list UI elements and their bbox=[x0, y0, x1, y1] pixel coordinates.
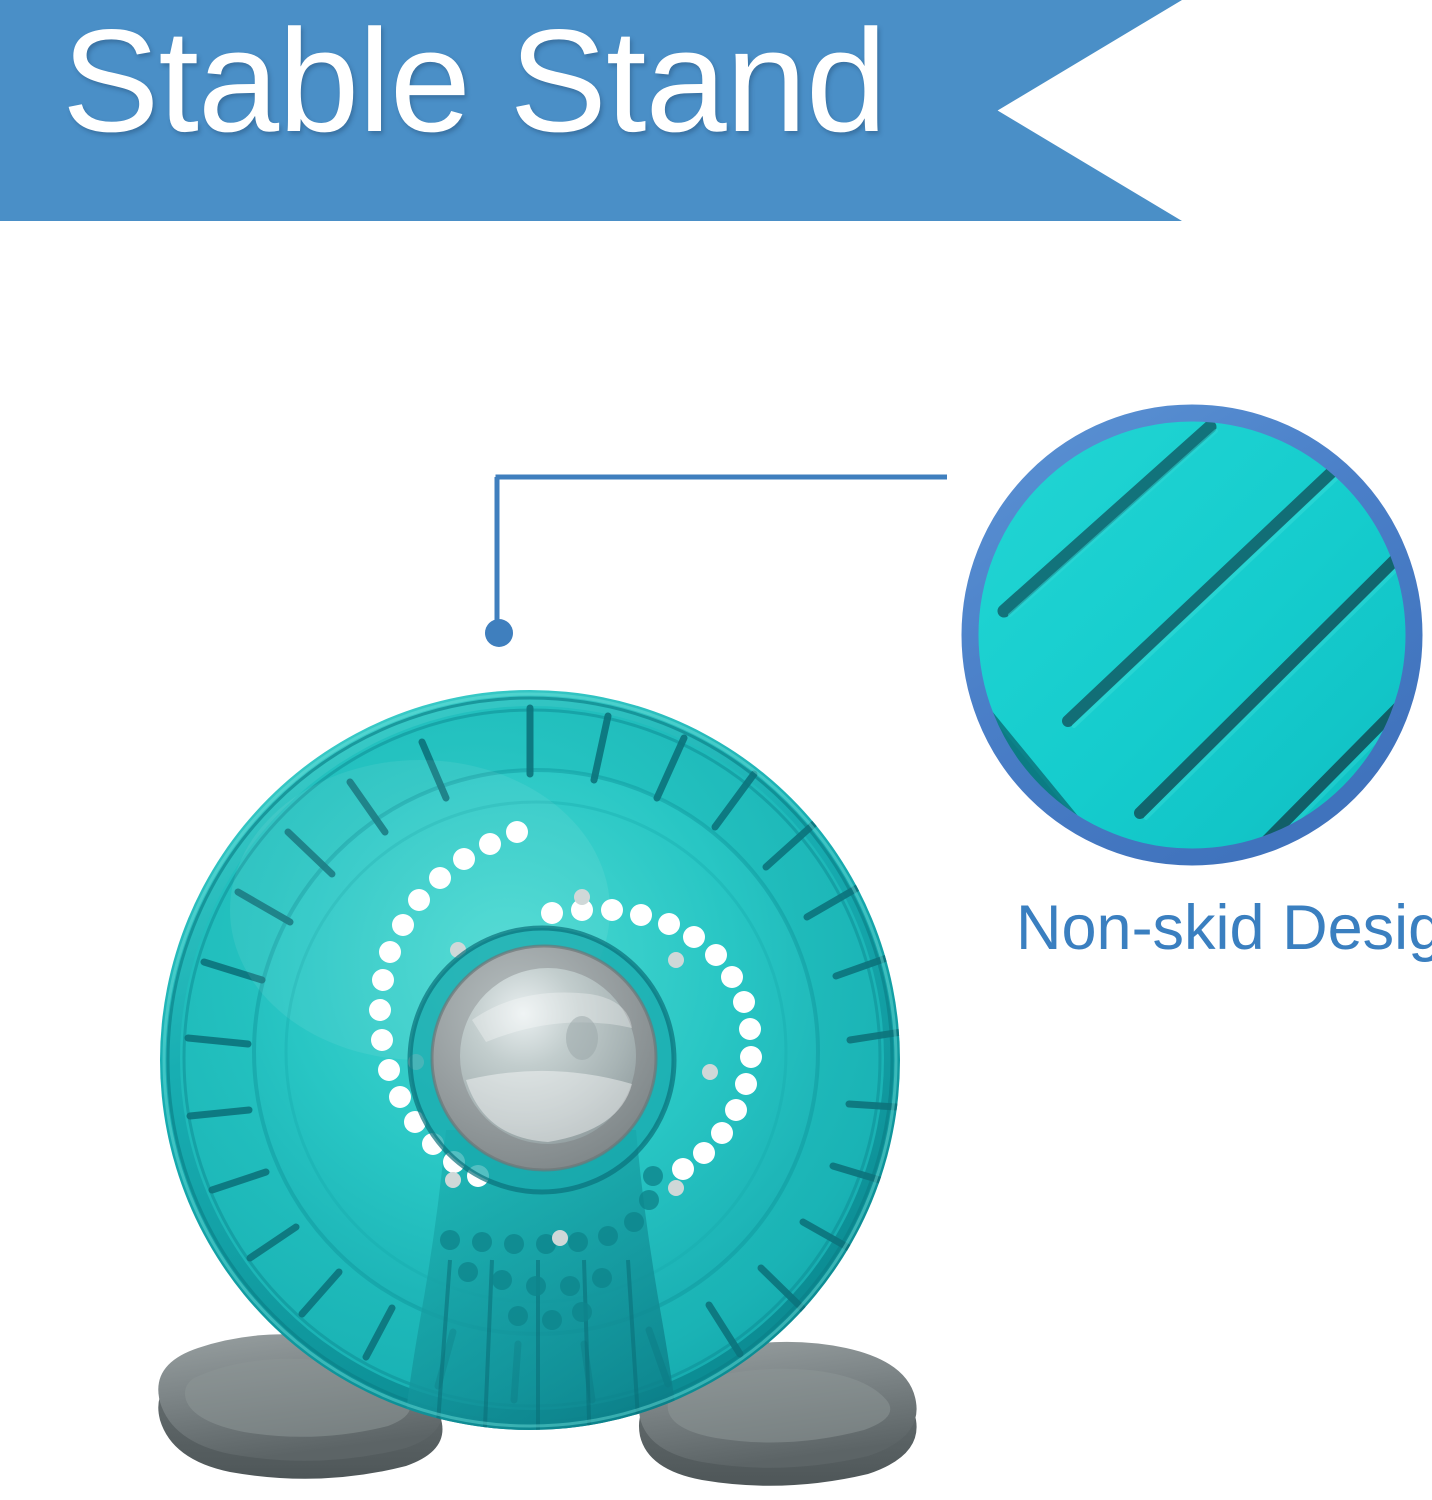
callout-leader-line bbox=[470, 450, 970, 660]
header-banner: Stable Stand bbox=[0, 0, 1432, 224]
hub-dome-spot bbox=[566, 1016, 598, 1060]
page-title: Stable Stand bbox=[62, 6, 886, 156]
wheel-center-hub bbox=[410, 928, 674, 1192]
product-image-exercise-wheel bbox=[120, 660, 940, 1500]
stand-base-shadow bbox=[402, 1452, 680, 1485]
callout-end-dot bbox=[485, 619, 513, 647]
product-marketing-graphic: Stable Stand bbox=[0, 0, 1432, 1500]
magnifier-detail-circle bbox=[958, 401, 1426, 869]
non-skid-design-label: Non-skid Design bbox=[1016, 892, 1432, 964]
